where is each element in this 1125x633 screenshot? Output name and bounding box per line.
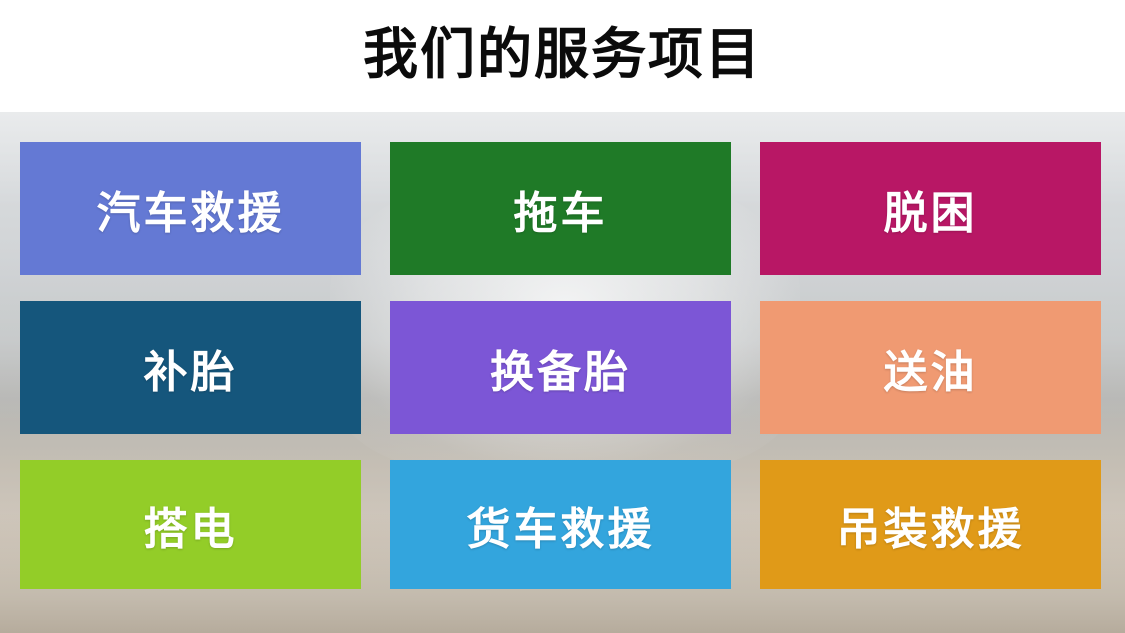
service-tile-truck-rescue[interactable]: 货车救援: [390, 460, 731, 589]
service-tile-label: 吊装救援: [837, 493, 1025, 557]
service-slide: 我们的服务项目 汽车救援 拖车 脱困 补胎 换备胎 送油 搭电 货车救援 吊装救…: [0, 0, 1125, 633]
service-grid: 汽车救援 拖车 脱困 补胎 换备胎 送油 搭电 货车救援 吊装救援: [20, 142, 1105, 593]
service-tile-label: 脱困: [884, 177, 978, 241]
service-tile-crane-rescue[interactable]: 吊装救援: [760, 460, 1101, 589]
service-tile-extrication[interactable]: 脱困: [760, 142, 1101, 275]
service-tile-spare-tire[interactable]: 换备胎: [390, 301, 731, 434]
service-tile-label: 拖车: [514, 177, 608, 241]
service-tile-label: 补胎: [144, 336, 238, 400]
service-tile-label: 送油: [884, 336, 978, 400]
service-tile-label: 汽车救援: [97, 177, 285, 241]
service-tile-label: 货车救援: [467, 493, 655, 557]
service-tile-label: 换备胎: [490, 336, 631, 400]
service-tile-tire-repair[interactable]: 补胎: [20, 301, 361, 434]
service-tile-fuel-delivery[interactable]: 送油: [760, 301, 1101, 434]
service-tile-towing[interactable]: 拖车: [390, 142, 731, 275]
service-tile-label: 搭电: [144, 493, 238, 557]
service-tile-jump-start[interactable]: 搭电: [20, 460, 361, 589]
service-tile-car-rescue[interactable]: 汽车救援: [20, 142, 361, 275]
page-title: 我们的服务项目: [0, 18, 1125, 90]
